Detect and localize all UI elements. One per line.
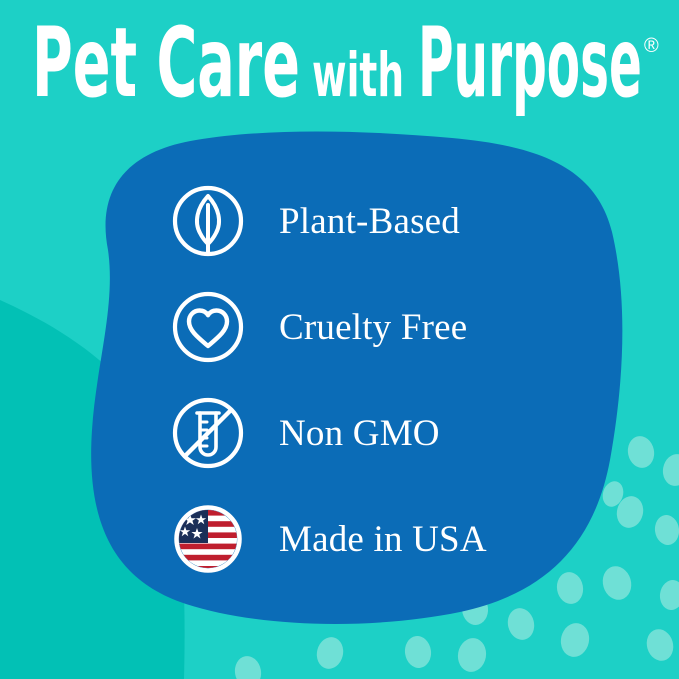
headline-svg: Pet Care with Purpose ® [20,20,660,116]
claim-row-plant-based: Plant-Based [0,168,679,274]
claim-row-cruelty-free: Cruelty Free [0,274,679,380]
claim-label-cruelty-free: Cruelty Free [279,309,467,346]
claim-label-non-gmo: Non GMO [279,415,440,452]
no-test-tube-icon [170,395,246,471]
usa-flag-icon [170,501,246,577]
registered-trademark-icon: ® [644,35,659,57]
heart-icon [170,289,246,365]
leaf-icon [170,183,246,259]
claim-label-plant-based: Plant-Based [279,203,460,240]
headline-part-3: Purpose [418,20,642,116]
claim-row-non-gmo: Non GMO [0,380,679,486]
headline-part-2: with [311,40,403,111]
headline-part-1: Pet Care [32,20,300,116]
headline: Pet Care with Purpose ® [0,18,679,118]
claim-label-made-in-usa: Made in USA [279,521,487,558]
claim-row-made-in-usa: Made in USA [0,486,679,592]
claims-list: Plant-Based Cruelty Free [0,168,679,592]
pet-care-infographic: Pet Care with Purpose ® Plant-Based [0,0,679,679]
